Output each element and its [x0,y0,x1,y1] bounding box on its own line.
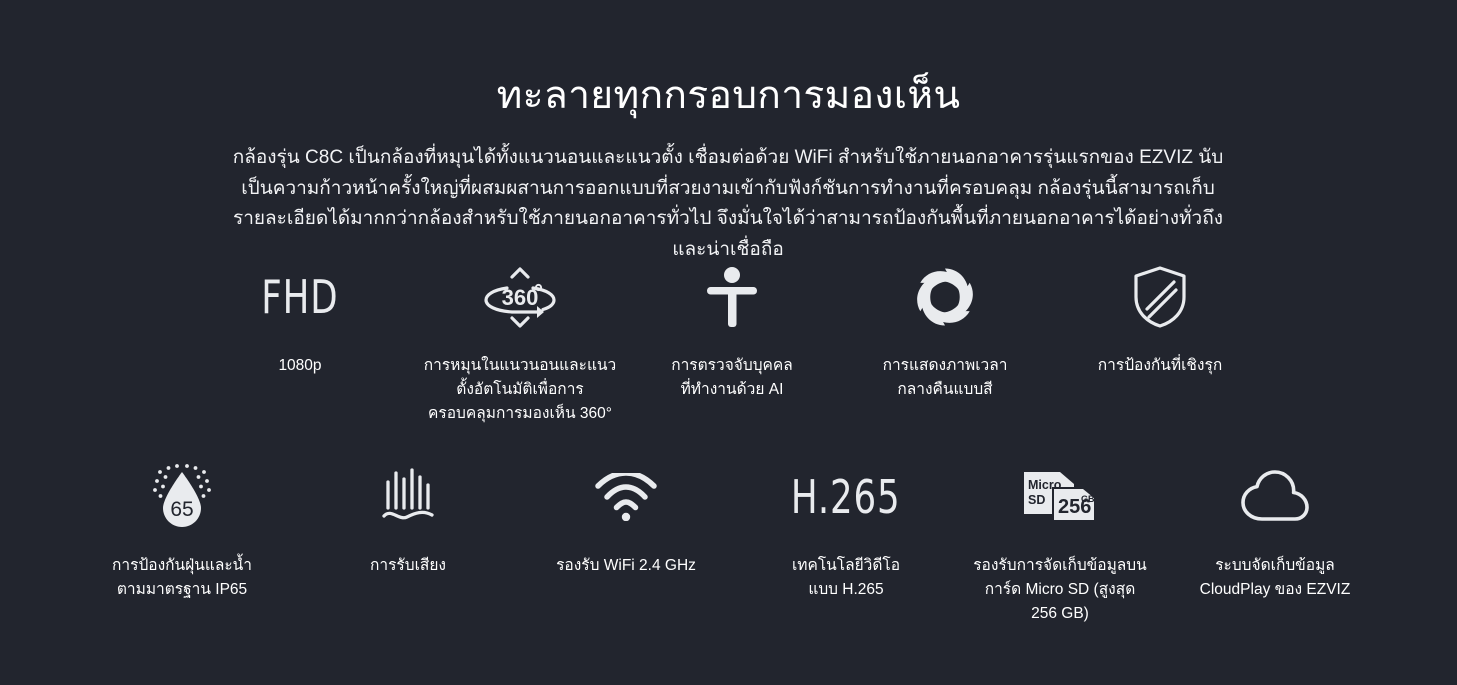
feature-label: รองรับ WiFi 2.4 GHz [511,554,741,578]
cloud-storage-icon [1160,462,1390,532]
color-night-vision-aperture-icon [840,262,1050,332]
feature-label: ระบบจัดเก็บข้อมูล CloudPlay ของ EZVIZ [1160,554,1390,602]
feature-label: การหมุนในแนวนอนและแนว ตั้งอัตโนมัติเพื่อ… [405,354,635,426]
feature-page: ทะลายทุกกรอบการมองเห็น กล้องรุ่น C8C เป็… [0,0,1457,685]
page-title: ทะลายทุกกรอบการมองเห็น [0,70,1457,122]
person-detection-icon [627,262,837,332]
water-drop-ip65-icon: 65 [62,462,302,532]
feature-item-audio: การรับเสียง [308,462,508,578]
feature-item-fhd: FHD 1080p [170,262,430,378]
svg-text:360: 360 [502,285,539,310]
feature-item-micro-sd: Micro SD 256 GB รองรับการจัดเก็บข้อมูลบน… [945,462,1175,626]
feature-item-cloud-storage: ระบบจัดเก็บข้อมูล CloudPlay ของ EZVIZ [1160,462,1390,602]
audio-waveform-icon [308,462,508,532]
feature-label: การแสดงภาพเวลา กลางคืนแบบสี [840,354,1050,402]
fhd-text-icon: FHD [170,262,430,332]
page-description: กล้องรุ่น C8C เป็นกล้องที่หมุนได้ทั้งแนว… [228,143,1228,265]
micro-sd-label-line2: SD [1028,493,1045,507]
pan-tilt-360-icon: 360 [405,262,635,332]
micro-sd-capacity-unit: GB [1081,494,1095,504]
h265-text-icon: H.265 [746,462,946,532]
feature-label: รองรับการจัดเก็บข้อมูลบน การ์ด Micro SD … [945,554,1175,626]
feature-label: เทคโนโลยีวิดีโอ แบบ H.265 [746,554,946,602]
feature-label: การตรวจจับบุคคล ที่ทำงานด้วย AI [627,354,837,402]
shield-active-defense-icon [1045,262,1275,332]
feature-item-active-defense: การป้องกันที่เชิงรุก [1045,262,1275,378]
wifi-icon [511,462,741,532]
feature-item-ip65: 65 การป้องกันฝุ่นและน้ำ ตามมาตรฐาน IP65 [62,462,302,602]
feature-item-pan-tilt-360: 360 การหมุนในแนวนอนและแนว ตั้งอัตโนมัติเ… [405,262,635,426]
h265-glyph: H.265 [791,474,901,520]
feature-item-person-detection: การตรวจจับบุคคล ที่ทำงานด้วย AI [627,262,837,402]
micro-sd-card-icon: Micro SD 256 GB [945,462,1175,532]
feature-label: การป้องกันฝุ่นและน้ำ ตามมาตรฐาน IP65 [62,554,302,602]
feature-item-h265: H.265 เทคโนโลยีวิดีโอ แบบ H.265 [746,462,946,602]
feature-item-color-night-vision: การแสดงภาพเวลา กลางคืนแบบสี [840,262,1050,402]
feature-label: 1080p [170,354,430,378]
feature-item-wifi: รองรับ WiFi 2.4 GHz [511,462,741,578]
feature-label: การรับเสียง [308,554,508,578]
fhd-glyph: FHD [261,274,338,320]
feature-label: การป้องกันที่เชิงรุก [1045,354,1275,378]
ip65-value: 65 [170,498,193,521]
